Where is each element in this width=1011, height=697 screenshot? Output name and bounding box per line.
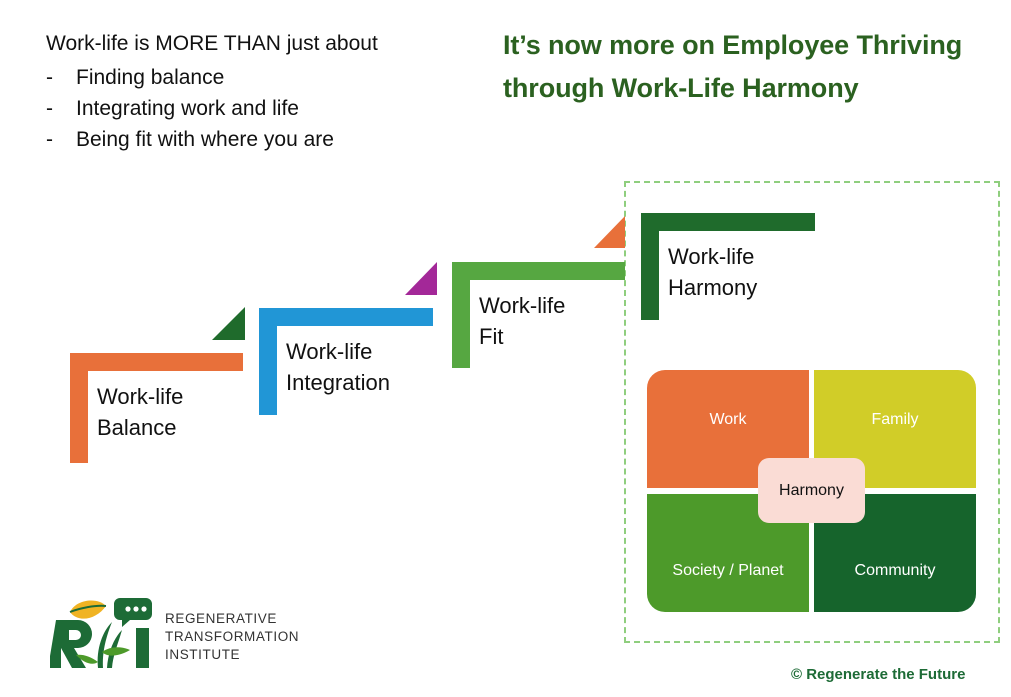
- list-item: - Integrating work and life: [46, 93, 476, 124]
- step-label: Work-life Harmony: [668, 241, 757, 303]
- harmony-center-badge: Harmony: [758, 458, 865, 523]
- arrow-fit-to-harmony-icon: [594, 216, 625, 248]
- step-horizontal-bar: [259, 308, 433, 326]
- page-title: It’s now more on Employee Thriving throu…: [503, 24, 973, 110]
- list-item: - Finding balance: [46, 62, 476, 93]
- rti-logo-mark-icon: [50, 592, 162, 672]
- harmony-center-label: Harmony: [779, 482, 844, 500]
- quadrant-label: Family: [871, 411, 918, 429]
- arrow-balance-to-integration-icon: [212, 307, 245, 340]
- logo-wordmark: REGENERATIVE TRANSFORMATION INSTITUTE: [165, 610, 299, 664]
- bullet-label: Integrating work and life: [76, 93, 299, 124]
- bullet-dash: -: [46, 124, 76, 155]
- step-work-life-harmony: Work-life Harmony: [641, 213, 815, 320]
- step-work-life-balance: Work-life Balance: [70, 353, 243, 463]
- intro-bullet-list: - Finding balance - Integrating work and…: [46, 62, 476, 155]
- quadrant-label: Work: [709, 411, 746, 429]
- quadrant-label: Community: [855, 562, 936, 580]
- bullet-dash: -: [46, 93, 76, 124]
- step-horizontal-bar: [641, 213, 815, 231]
- step-label: Work-life Balance: [97, 381, 183, 443]
- step-horizontal-bar: [452, 262, 625, 280]
- step-work-life-fit: Work-life Fit: [452, 262, 625, 368]
- footer-credit: © Regenerate the Future: [791, 666, 965, 683]
- intro-lead-line: Work-life is MORE THAN just about: [46, 28, 476, 60]
- bullet-dash: -: [46, 62, 76, 93]
- step-label: Work-life Fit: [479, 290, 565, 352]
- step-label: Work-life Integration: [286, 336, 390, 398]
- slide-canvas: Work-life is MORE THAN just about - Find…: [0, 0, 1011, 697]
- arrow-integration-to-fit-icon: [405, 262, 437, 295]
- bullet-label: Being fit with where you are: [76, 124, 334, 155]
- intro-text-block: Work-life is MORE THAN just about - Find…: [46, 28, 476, 155]
- bullet-label: Finding balance: [76, 62, 224, 93]
- list-item: - Being fit with where you are: [46, 124, 476, 155]
- regenerative-transformation-institute-logo: REGENERATIVE TRANSFORMATION INSTITUTE: [50, 592, 300, 672]
- step-work-life-integration: Work-life Integration: [259, 308, 433, 415]
- quadrant-label: Society / Planet: [672, 562, 783, 580]
- step-horizontal-bar: [70, 353, 243, 371]
